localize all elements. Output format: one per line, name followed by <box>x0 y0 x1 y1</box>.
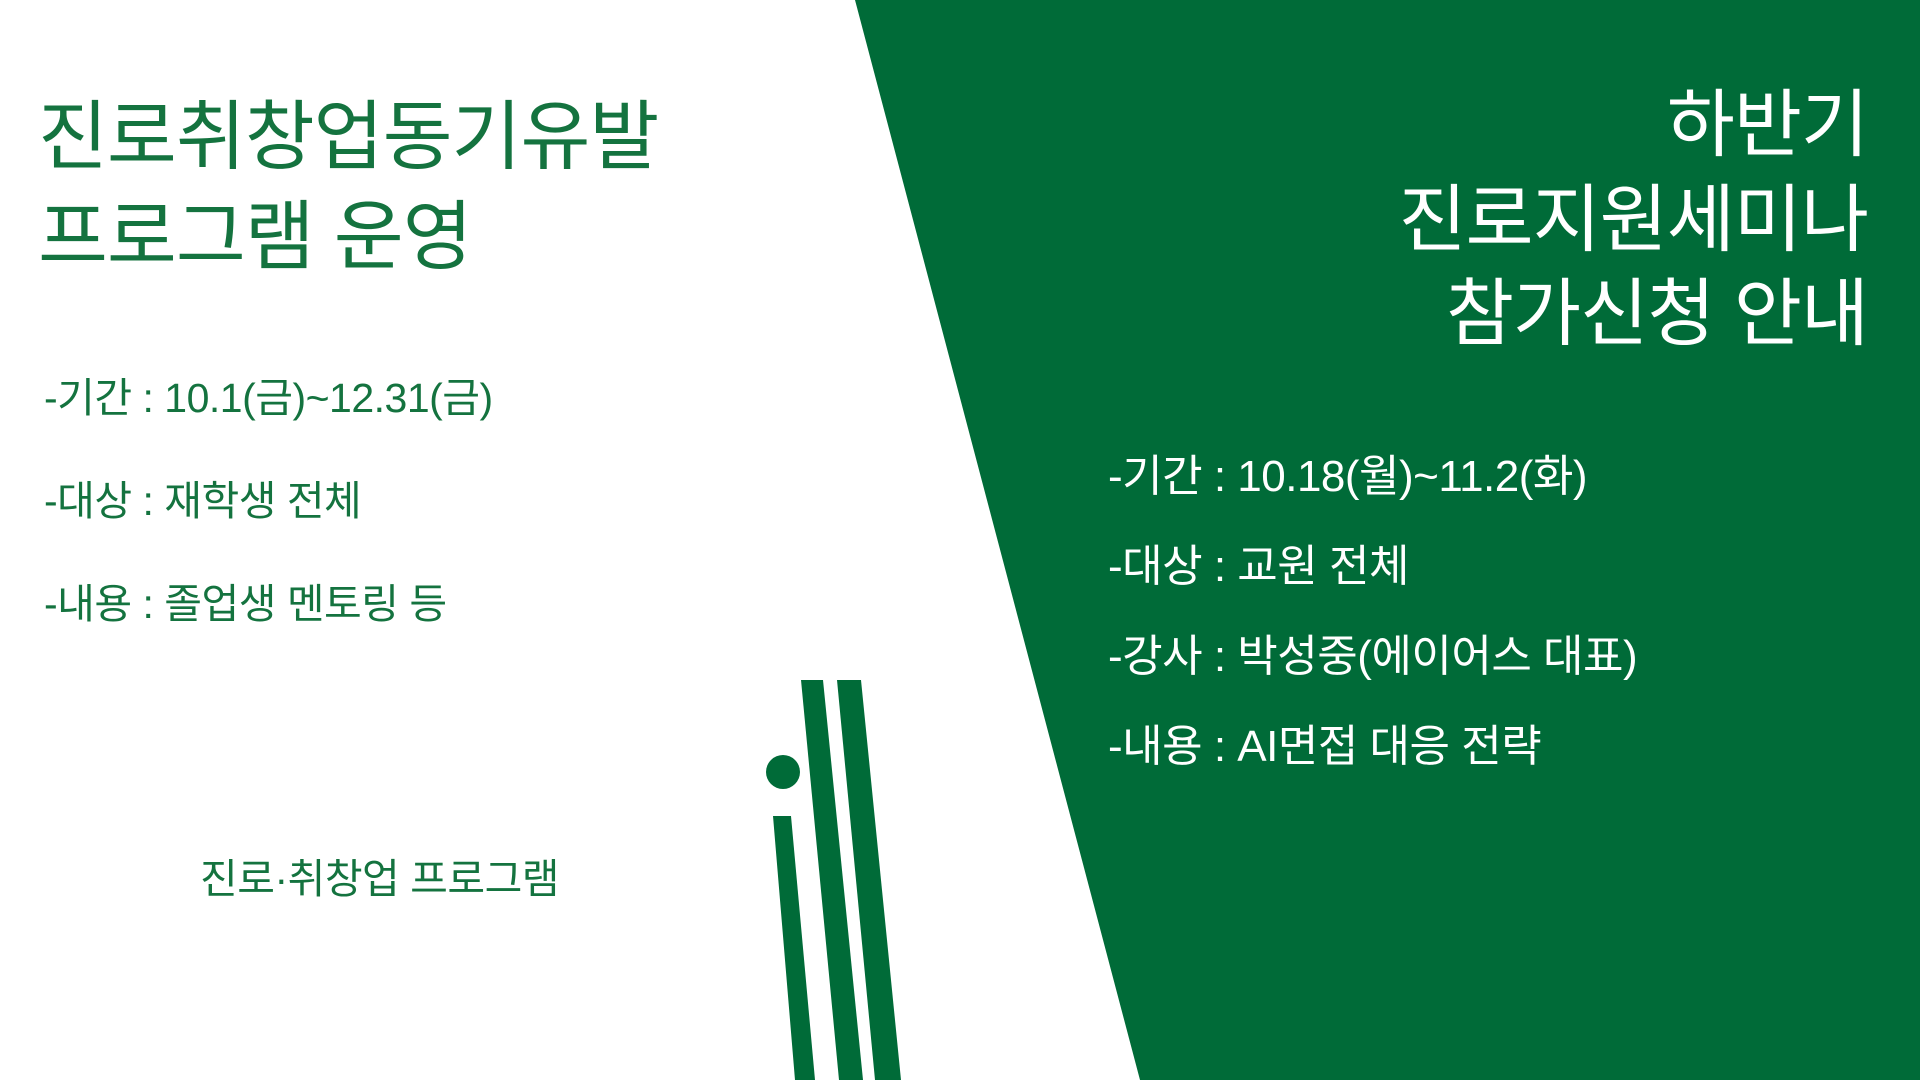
right-bullet-period: -기간 : 10.18(월)~11.2(화) <box>1108 455 1920 499</box>
right-bullet-lecturer: -강사 : 박성중(에이어스 대표) <box>1108 635 1920 679</box>
right-bullet-content: -내용 : AI면접 대응 전략 <box>1108 725 1920 769</box>
right-panel: 하반기 진로지원세미나 참가신청 안내 -기간 : 10.18(월)~11.2(… <box>1020 0 1920 1080</box>
left-panel-bullet-list: -기간 : 10.1(금)~12.31(금) -대상 : 재학생 전체 -내용 … <box>44 378 844 687</box>
left-panel: 진로취창업동기유발 프로그램 운영 -기간 : 10.1(금)~12.31(금)… <box>0 0 860 1080</box>
left-bullet-period: -기간 : 10.1(금)~12.31(금) <box>44 378 844 419</box>
left-panel-footer-label: 진로·취창업 프로그램 <box>200 845 559 905</box>
right-panel-title: 하반기 진로지원세미나 참가신청 안내 <box>1398 78 1868 362</box>
left-bullet-content: -내용 : 졸업생 멘토링 등 <box>44 584 844 625</box>
right-bullet-target: -대상 : 교원 전체 <box>1108 545 1920 589</box>
right-title-line-1: 하반기 <box>1398 78 1868 173</box>
right-panel-bullet-list: -기간 : 10.18(월)~11.2(화) -대상 : 교원 전체 -강사 :… <box>1108 455 1920 815</box>
slide-root: 진로취창업동기유발 프로그램 운영 -기간 : 10.1(금)~12.31(금)… <box>0 0 1920 1080</box>
left-panel-title: 진로취창업동기유발 프로그램 운영 <box>38 88 858 289</box>
right-title-line-3: 참가신청 안내 <box>1398 267 1868 362</box>
right-title-line-2: 진로지원세미나 <box>1398 173 1868 268</box>
left-bullet-target: -대상 : 재학생 전체 <box>44 481 844 522</box>
left-title-line-2: 프로그램 운영 <box>38 188 858 288</box>
left-title-line-1: 진로취창업동기유발 <box>38 88 858 188</box>
